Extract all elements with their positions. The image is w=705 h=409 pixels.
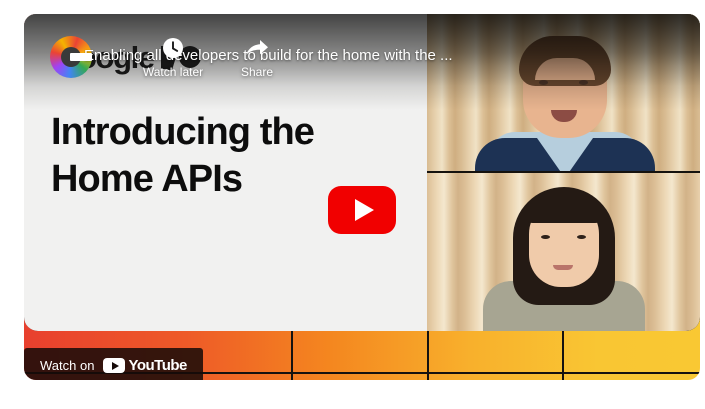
presenter-top-hair [519,36,611,86]
watch-later-label: Watch later [136,65,210,79]
play-triangle-icon [355,199,374,221]
presenter-top-sweater [475,138,655,171]
presenter-bottom-mouth [553,265,573,270]
youtube-video-player[interactable]: Introducing the Home APIs [24,14,700,380]
watch-on-youtube-button[interactable]: Watch on YouTube [24,348,203,380]
watch-later-button[interactable]: Watch later [136,36,210,79]
presenter-top-eye-left [539,80,548,85]
youtube-wordmark: YouTube [128,357,186,374]
play-button[interactable] [328,186,396,234]
youtube-play-icon [103,358,125,373]
presenter-top-eye-right [579,80,588,85]
presenter-bottom-fringe [525,193,603,223]
presenter-top-tile [427,14,700,171]
presenter-bottom-eye-left [541,235,550,239]
google-g-icon [50,36,92,78]
clock-icon [136,36,210,62]
share-arrow-icon [220,36,294,62]
presenter-bottom-tile [427,173,700,331]
youtube-logo: YouTube [103,357,186,374]
video-stage: Introducing the Home APIs [24,14,700,331]
share-label: Share [220,65,294,79]
share-button[interactable]: Share [220,36,294,79]
watch-on-label: Watch on [40,358,94,373]
presenter-bottom-eye-right [577,235,586,239]
